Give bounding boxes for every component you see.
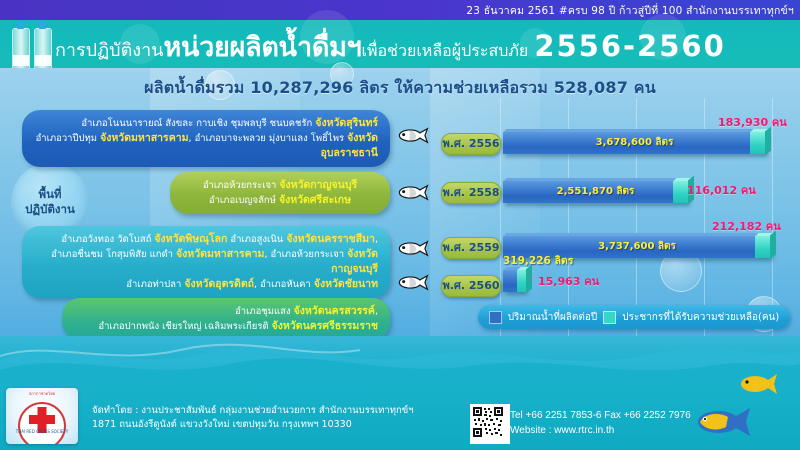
area-line: อำเภอโนนนารายณ์ สังขละ กาบเชิง ชุมพลบุรี… xyxy=(34,116,378,131)
tropical-fish-icon xyxy=(736,372,780,396)
area-text: อำเภอสูงเนิน xyxy=(227,234,286,245)
area-province: จังหวัดอุตรดิตถ์ xyxy=(184,278,254,290)
area-text: , xyxy=(375,234,378,245)
bar-people-cap-2559 xyxy=(755,236,771,258)
area-circle-line2: ปฏิบัติงาน xyxy=(25,202,75,217)
bar-people-label-2560: 15,963 คน xyxy=(538,272,599,290)
area-province: จังหวัดสุรินทร์ xyxy=(315,117,378,129)
footer-credits: จัดทำโดย : งานประชาสัมพันธ์ กลุ่มงานช่วย… xyxy=(92,404,414,432)
footer-line1: จัดทำโดย : งานประชาสัมพันธ์ กลุ่มงานช่วย… xyxy=(92,404,414,418)
year-label-2556: พ.ศ. 2556 xyxy=(441,133,501,155)
area-bubble-2558: อำเภอห้วยกระเจา จังหวัดกาญจนบุรี อำเภอเบ… xyxy=(170,172,390,214)
area-province: จังหวัดศรีสะเกษ xyxy=(279,194,351,206)
bar-people-label-2556: 183,930 คน xyxy=(718,113,787,131)
bar-people-label-2559: 212,182 คน xyxy=(712,217,781,235)
qr-code[interactable] xyxy=(470,404,510,444)
area-bubble-2556: อำเภอโนนนารายณ์ สังขละ กาบเชิง ชุมพลบุรี… xyxy=(22,110,390,167)
bar-row-2558: 2,551,870 ลิตร xyxy=(503,181,703,205)
fish-icon xyxy=(396,127,430,144)
wave-decor xyxy=(0,326,800,386)
area-text: อำเภอชุมแสง xyxy=(235,306,294,317)
qr-code-image xyxy=(472,406,504,438)
contact-tel: Tel +66 2251 7853-6 Fax +66 2252 7976 xyxy=(510,408,691,423)
bar-liters-2558: 2,551,870 ลิตร xyxy=(503,181,688,203)
area-text: , อำเภอหันคา xyxy=(254,279,314,290)
area-text: อำเภอโนนนารายณ์ สังขละ กาบเชิง ชุมพลบุรี… xyxy=(81,118,315,129)
year-label-2558: พ.ศ. 2558 xyxy=(441,182,501,204)
area-line: อำเภอชุมแสง จังหวัดนครสวรรค์, xyxy=(74,304,378,319)
area-line: อำเภอชื่นชม โกสุมพิสัย แกดำ จังหวัดมหาสา… xyxy=(34,247,378,277)
fish-icon xyxy=(396,240,430,257)
contact-info: Tel +66 2251 7853-6 Fax +66 2252 7976 We… xyxy=(510,408,691,438)
area-province: จังหวัดกาญจนบุรี xyxy=(279,179,357,191)
area-text: อำเภอวังทอง วัดโบสถ์ xyxy=(61,234,154,245)
thai-red-cross-logo: สภากาชาดไทย THAI RED CROSS SOCIETY xyxy=(6,388,78,444)
area-line: อำเภอวาปีปทุม จังหวัดมหาสารคาม, อำเภอบาจ… xyxy=(34,131,378,161)
area-text: , อำเภอห้วยกระเจา xyxy=(264,249,347,260)
legend-label-people: ประชากรที่ได้รับความช่วยเหลือ(คน) xyxy=(622,310,779,325)
area-text: , อำเภอบาจะพลวย มุ่งบาแลง โพธิ์ไพร xyxy=(189,133,348,144)
area-line: อำเภอเบญจลักษ์ จังหวัดศรีสะเกษ xyxy=(182,193,378,208)
footer-line2: 1871 ถนนอังรีดูนังต์ แขวงวังใหม่ เขตปทุม… xyxy=(92,418,414,432)
tropical-fish-icon xyxy=(690,405,754,439)
area-circle-line1: พื้นที่ xyxy=(38,187,61,202)
area-province: จังหวัดมหาสารคาม xyxy=(100,132,188,144)
summary-text: ผลิตน้ำดื่มรวม 10,287,296 ลิตร ให้ความช่… xyxy=(0,76,800,101)
area-line: อำเภอท่าปลา จังหวัดอุตรดิตถ์, อำเภอหันคา… xyxy=(34,277,378,292)
area-province: จังหวัดพิษณุโลก xyxy=(154,233,227,245)
area-text: , xyxy=(375,306,378,317)
top-notice-text: 23 ธันวาคม 2561 #ครบ 98 ปี ก้าวสู่ปีที่ … xyxy=(466,2,794,19)
bar-people-cap-2556 xyxy=(750,132,766,154)
bar-row-2560 xyxy=(503,270,537,294)
area-province: จังหวัดนครสวรรค์ xyxy=(294,305,375,317)
legend-swatch-people xyxy=(603,311,616,324)
bar-liters-label-2556: 3,678,600 ลิตร xyxy=(503,132,766,154)
year-label-2560: พ.ศ. 2560 xyxy=(441,275,501,297)
area-line: อำเภอวังทอง วัดโบสถ์ จังหวัดพิษณุโลก อำเ… xyxy=(34,232,378,247)
area-text: อำเภอเบญจลักษ์ xyxy=(209,195,279,206)
title-part2: หน่วยผลิตน้ำดื่มฯ xyxy=(164,32,362,63)
area-text: อำเภอวาปีปทุม xyxy=(36,133,101,144)
area-bubble-2559: อำเภอวังทอง วัดโบสถ์ จังหวัดพิษณุโลก อำเ… xyxy=(22,226,390,298)
bar-liters-2556: 3,678,600 ลิตร xyxy=(503,132,766,154)
bar-people-cap-2560 xyxy=(517,270,527,292)
contact-website[interactable]: Website : www.rtrc.in.th xyxy=(510,423,691,438)
fish-icon xyxy=(396,274,430,291)
area-line: อำเภอห้วยกระเจา จังหวัดกาญจนบุรี xyxy=(182,178,378,193)
page-title: การปฏิบัติงานหน่วยผลิตน้ำดื่มฯเพื่อช่วยเ… xyxy=(55,26,795,66)
logo-subtitle: THAI RED CROSS SOCIETY xyxy=(6,429,78,434)
infographic-canvas: 23 ธันวาคม 2561 #ครบ 98 ปี ก้าวสู่ปีที่ … xyxy=(0,0,800,450)
legend-swatch-liters xyxy=(489,311,502,324)
bar-liters-label-2560: 319,226 ลิตร xyxy=(503,252,573,269)
bar-liters-label-2558: 2,551,870 ลิตร xyxy=(503,181,688,203)
area-province: จังหวัดชัยนาท xyxy=(314,278,378,290)
year-label-2559: พ.ศ. 2559 xyxy=(441,237,501,259)
red-cross-icon xyxy=(29,415,55,424)
title-years: 2556-2560 xyxy=(534,29,725,63)
title-part3: เพื่อช่วยเหลือผู้ประสบภัย xyxy=(361,41,528,60)
bar-row-2556: 3,678,600 ลิตร xyxy=(503,132,782,156)
bar-people-label-2558: 116,012 คน xyxy=(687,181,756,199)
legend-label-liters: ปริมาณน้ำที่ผลิตต่อปี xyxy=(508,310,598,325)
area-text: อำเภอห้วยกระเจา xyxy=(203,180,280,191)
area-province: จังหวัดมหาสารคาม xyxy=(176,248,264,260)
area-text: อำเภอชื่นชม โกสุมพิสัย แกดำ xyxy=(51,249,176,260)
top-notice-bar: 23 ธันวาคม 2561 #ครบ 98 ปี ก้าวสู่ปีที่ … xyxy=(0,0,800,22)
fish-icon xyxy=(396,184,430,201)
title-part1: การปฏิบัติงาน xyxy=(55,40,164,61)
area-province: จังหวัดนครราชสีมา xyxy=(286,233,375,245)
area-text: อำเภอท่าปลา xyxy=(126,279,184,290)
